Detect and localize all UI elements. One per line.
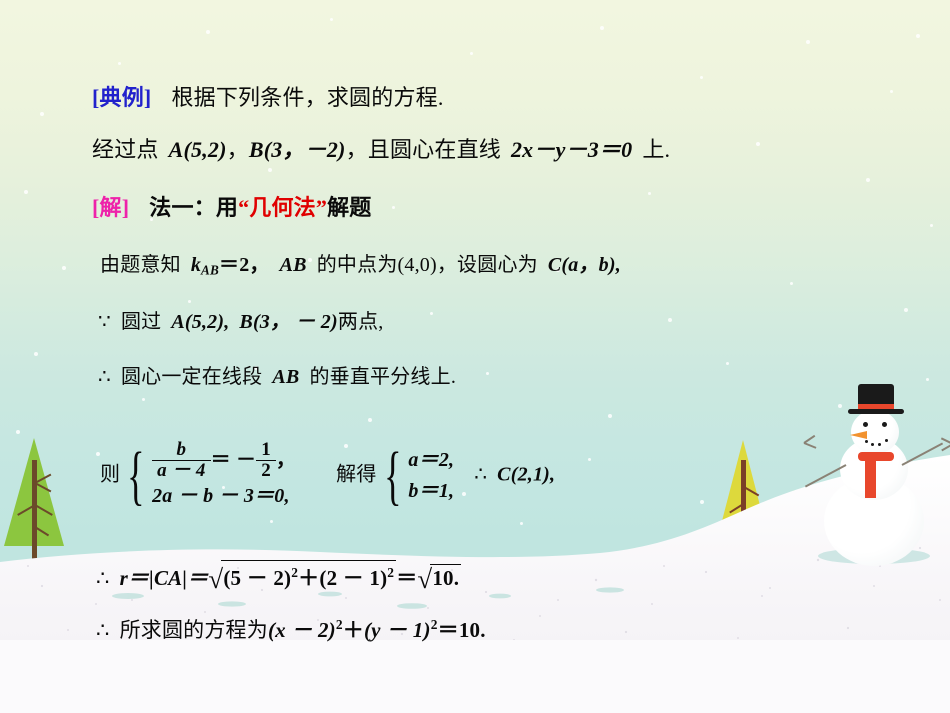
final-a-exponent: 2 [336, 617, 343, 632]
problem-prefix: 经过点 [92, 137, 159, 162]
because-text-1: 圆过 [121, 311, 161, 333]
therefore-text-1: 圆心一定在线段 [121, 366, 262, 388]
left-brace-icon: { [127, 449, 145, 503]
final-b-exponent: 2 [431, 617, 438, 632]
therefore-symbol-4: ∴ [96, 618, 110, 642]
final-term-a: (x － 2) [268, 618, 336, 642]
slope-value: ＝2， [219, 254, 270, 276]
center-notation: C(a，b), [548, 254, 621, 276]
radical-sum: √(5 － 2)2＋(2 － 1)2 [208, 560, 396, 595]
solution-b: b＝1, [408, 476, 454, 507]
step-slope-line: 由题意知kAB＝2，AB的中点为(4,0)，设圆心为C(a，b), [100, 248, 621, 279]
slope-symbol: k [191, 254, 201, 276]
eq1-relation: ＝ － [211, 449, 257, 471]
system-eq-1: ba － 4＝ －12， [152, 440, 296, 481]
point-a-ref: A(5,2), [171, 311, 229, 333]
problem-mid-text: 且圆心在直线 [368, 137, 501, 162]
solution-heading-line: [解]法一：用“几何法”解题 [92, 190, 372, 222]
final-equation-line: ∴所求圆的方程为(x － 2)2＋(y － 1)2＝10. [96, 614, 486, 644]
system-lead: 则 [100, 464, 120, 486]
final-plus: ＋ [343, 618, 364, 642]
example-tag: [典例] [92, 85, 151, 110]
fraction-one-half: 12 [256, 440, 276, 481]
radical-result: √10. [417, 564, 461, 595]
example-heading-line: [典例]根据下列条件，求圆的方程. [92, 80, 444, 112]
eq1-tail: ， [276, 449, 296, 471]
solution-tag: [解] [92, 195, 129, 220]
system-eq-2: 2a － b － 3＝0, [152, 481, 296, 512]
lesson-text-content: [典例]根据下列条件，求圆的方程. 经过点A(5,2)，B(3，－2)，且圆心在… [0, 0, 950, 713]
therefore-symbol-3: ∴ [96, 566, 110, 590]
point-b-ref: B(3， － 2) [239, 311, 337, 333]
method-label: 法一：用 [149, 195, 238, 220]
equation-system-solution: {a＝2,b＝1, [377, 445, 455, 507]
step-because-line: ∵圆过A(5,2),B(3， － 2)两点, [98, 305, 383, 334]
equation-system-line: 则{ba － 4＝ －12，2a － b － 3＝0,解得{a＝2,b＝1,∴C… [100, 440, 555, 512]
because-text-2: 两点, [338, 311, 384, 333]
slide-canvas: [典例]根据下列条件，求圆的方程. 经过点A(5,2)，B(3，－2)，且圆心在… [0, 0, 950, 713]
point-b: B(3，－2) [249, 137, 346, 162]
point-a: A(5,2) [169, 137, 227, 162]
problem-comma-1: ， [227, 137, 249, 162]
therefore-symbol-2: ∴ [474, 464, 487, 486]
therefore-symbol: ∴ [98, 366, 111, 388]
segment-ab-ref: AB [272, 366, 299, 388]
line-equation: 2x－y－3＝0 [511, 137, 632, 162]
problem-comma-2: ， [346, 137, 368, 162]
slope-subscript: AB [201, 263, 219, 278]
problem-statement-line: 经过点A(5,2)，B(3，－2)，且圆心在直线2x－y－3＝0上. [92, 132, 670, 164]
final-text: 所求圆的方程为 [120, 618, 268, 642]
method-tail: 解题 [327, 195, 371, 220]
segment-ab: AB [280, 254, 307, 276]
radius-equals: ＝ [396, 566, 417, 590]
method-highlight: “几何法” [238, 195, 327, 220]
step1-prefix: 由题意知 [100, 254, 181, 276]
final-term-b: (y － 1) [364, 618, 431, 642]
radius-label: r＝|CA|＝ [120, 566, 209, 590]
radicand-plus: ＋ [298, 566, 319, 590]
fraction-b-over-a-minus-4: ba － 4 [152, 440, 211, 481]
step-therefore-line: ∴圆心一定在线段AB的垂直平分线上. [98, 360, 456, 389]
example-heading-text: 根据下列条件，求圆的方程. [171, 85, 443, 110]
therefore-text-2: 的垂直平分线上. [309, 366, 456, 388]
problem-suffix: 上. [642, 137, 670, 162]
midpoint-text: 的中点为(4,0)，设圆心为 [317, 254, 538, 276]
solution-a: a＝2, [408, 445, 454, 476]
radius-result: 10. [430, 564, 461, 591]
left-brace-icon-2: { [384, 449, 402, 503]
final-equals: ＝10. [438, 618, 486, 642]
radicand-term-a: (5 － 2) [223, 566, 291, 590]
because-symbol: ∵ [98, 311, 111, 333]
radicand-term-b: (2 － 1) [319, 566, 387, 590]
center-result: C(2,1), [497, 464, 555, 486]
radicand-b-exponent: 2 [387, 565, 394, 580]
solve-label: 解得 [336, 464, 376, 486]
equation-system-left: {ba － 4＝ －12，2a － b － 3＝0, [120, 440, 296, 512]
radius-line: ∴r＝|CA|＝√(5 － 2)2＋(2 － 1)2＝√10. [96, 560, 461, 595]
